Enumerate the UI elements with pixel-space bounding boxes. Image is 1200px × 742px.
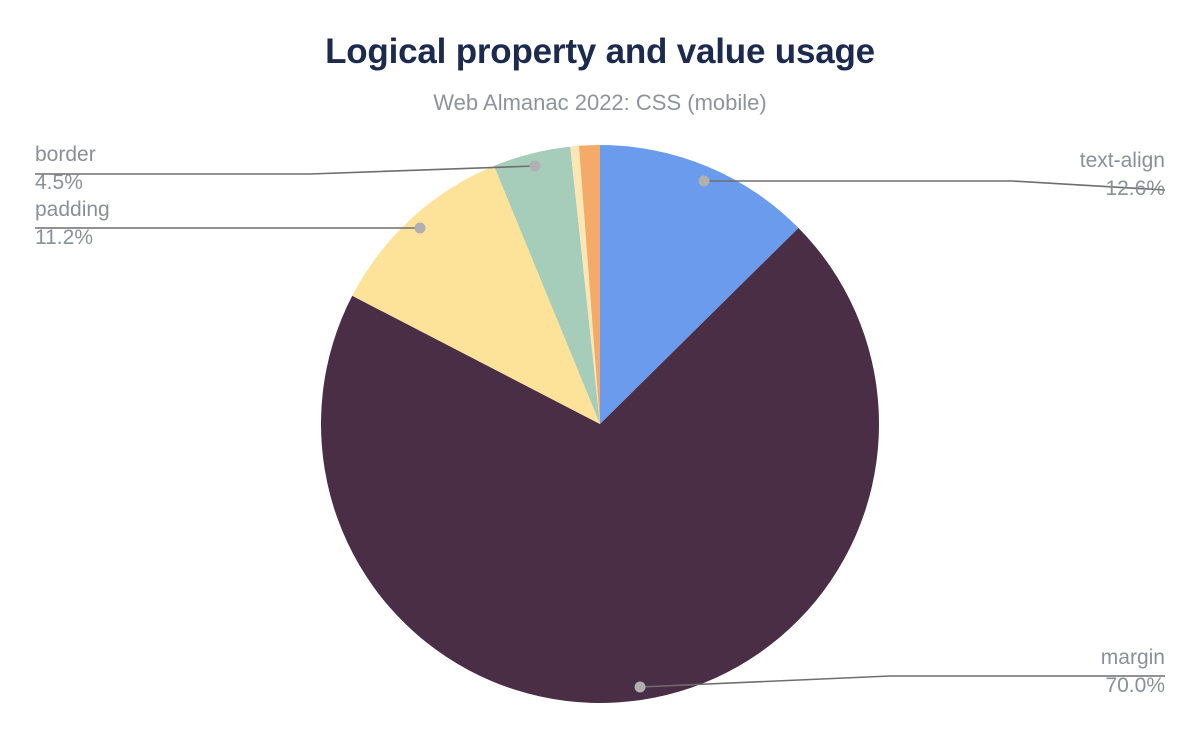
callout-border-value: 4.5% [35, 168, 96, 193]
leader-dot-text-align [699, 176, 710, 187]
pie-chart-plot-area: text-align 12.6% margin 70.0% border 4.5… [0, 0, 1200, 742]
chart-page: Logical property and value usage Web Alm… [0, 0, 1200, 742]
leader-line-border [35, 166, 535, 174]
callout-text-align[interactable]: text-align 12.6% [1080, 150, 1165, 199]
leader-dot-margin [635, 682, 646, 693]
callout-border-name: border [35, 144, 96, 168]
callout-margin-value: 70.0% [1101, 671, 1165, 696]
callout-padding-value: 11.2% [35, 223, 110, 248]
callout-text-align-value: 12.6% [1080, 174, 1165, 199]
callout-margin[interactable]: margin 70.0% [1101, 647, 1165, 696]
callout-padding[interactable]: padding 11.2% [35, 199, 110, 248]
callout-margin-name: margin [1101, 647, 1165, 671]
callout-padding-name: padding [35, 199, 110, 223]
leader-line-margin [640, 676, 1165, 687]
callout-border[interactable]: border 4.5% [35, 144, 96, 193]
leader-dot-border [530, 161, 541, 172]
leader-dot-padding [415, 223, 426, 234]
pie-chart-svg [0, 0, 1200, 742]
callout-text-align-name: text-align [1080, 150, 1165, 174]
